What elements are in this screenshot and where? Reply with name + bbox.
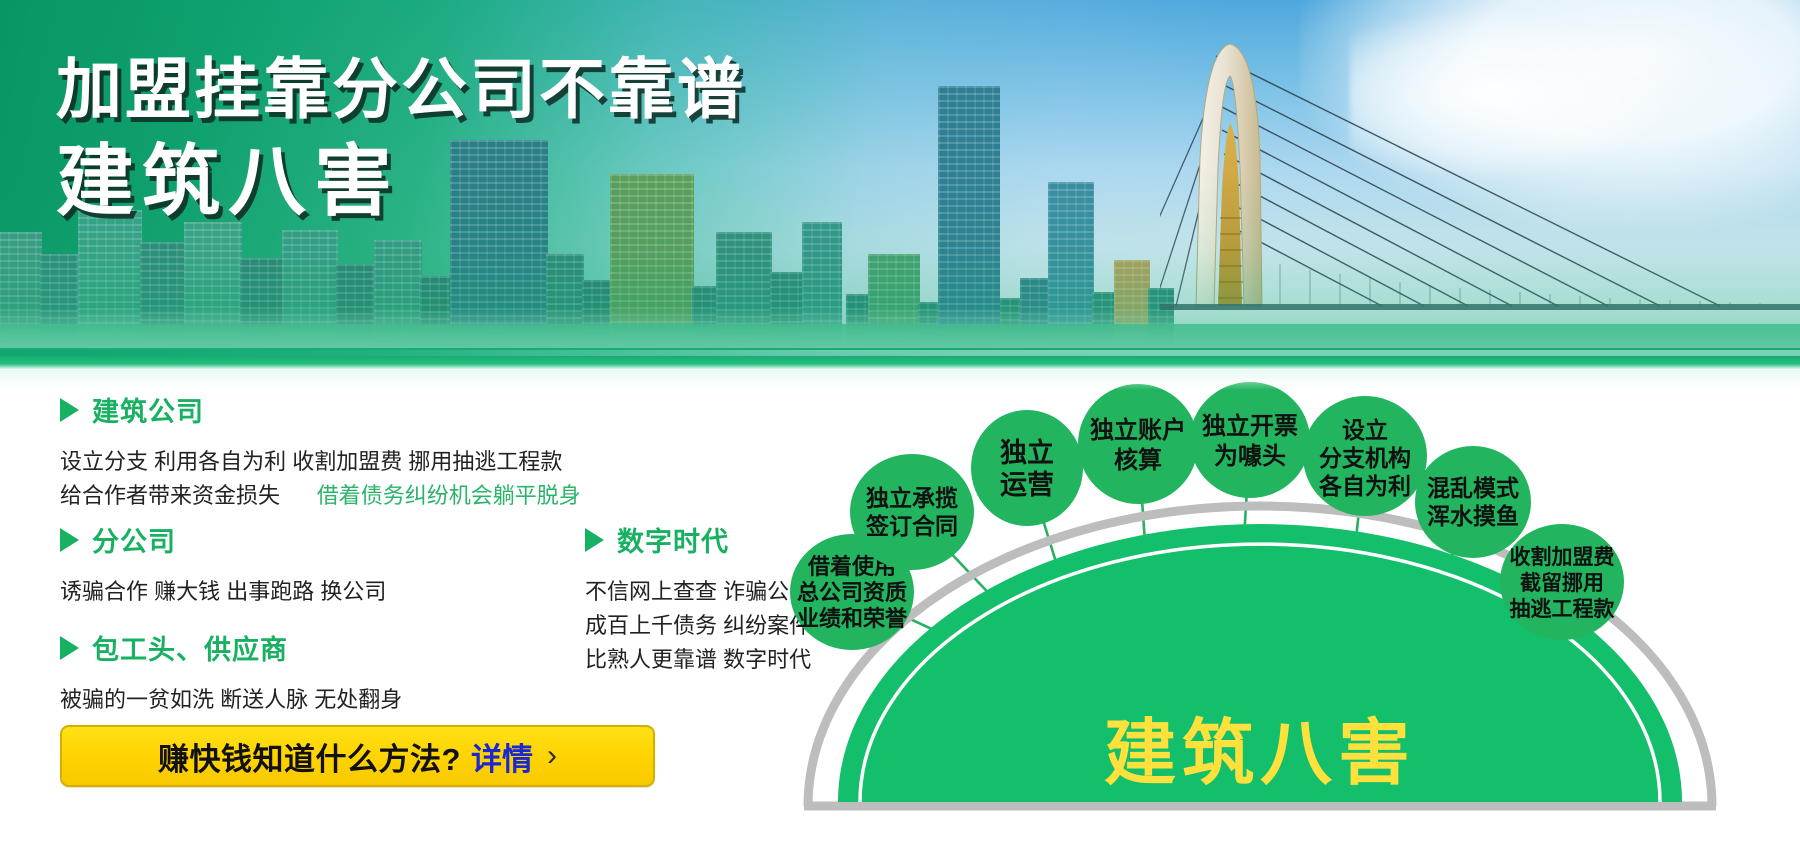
poster-canvas: 加盟挂靠分公司不靠谱 建筑八害 建筑公司 设立分支 利用各自为利 收割加盟费 挪… xyxy=(0,0,1800,844)
section-contractor-line-1: 被骗的一贫如洗 断送人脉 无处翻身 xyxy=(60,683,402,717)
bubble-b3-line-1: 独立 xyxy=(1000,437,1054,468)
headline-line-2: 建筑八害 xyxy=(56,142,746,220)
bubble-b2-line-2: 签订合同 xyxy=(865,513,958,539)
cta-main-label: 赚快钱知道什么方法? xyxy=(158,734,461,779)
section-branch: 分公司 诱骗合作 赚大钱 出事跑路 换公司 xyxy=(60,520,386,609)
bubble-b8-line-1: 收割加盟费 xyxy=(1510,545,1615,569)
section-contractor: 包工头、供应商 被骗的一贫如洗 断送人脉 无处翻身 xyxy=(60,628,402,717)
section-company-line-2-plain: 给合作者带来资金损失 xyxy=(60,483,280,508)
bubble-b5-line-1: 独立开票 xyxy=(1202,412,1298,440)
chevron-right-icon: › xyxy=(547,739,557,773)
section-branch-title: 分公司 xyxy=(92,520,176,559)
hero-banner: 加盟挂靠分公司不靠谱 建筑八害 xyxy=(0,0,1800,368)
section-branch-header: 分公司 xyxy=(60,520,386,559)
banner-bottom-divider xyxy=(0,356,1800,370)
bubble-b5-line-2: 为噱头 xyxy=(1214,443,1286,470)
bubble-b2-shape xyxy=(850,454,974,570)
bubble-b8-line-2: 截留挪用 xyxy=(1520,571,1604,595)
bubble-b4-line-2: 核算 xyxy=(1114,446,1162,474)
bubble-b6-line-2: 分支机构 xyxy=(1319,445,1411,471)
bubble-b8[interactable]: 收割加盟费 截留挪用 抽逃工程款 xyxy=(1500,524,1624,640)
cta-button[interactable]: 赚快钱知道什么方法? 详情 › xyxy=(60,725,655,787)
bubble-b1-line-2: 总公司资质 xyxy=(797,580,907,605)
bubble-b6[interactable]: 设立 分支机构 各自为利 xyxy=(1303,396,1427,516)
section-company: 建筑公司 设立分支 利用各自为利 收割加盟费 挪用抽逃工程款 给合作者带来资金损… xyxy=(60,390,581,513)
bubble-b7-line-2: 浑水摸鱼 xyxy=(1427,503,1519,529)
diagram-svg: 建筑八害 借着使用 总公司资质 业绩和荣誉 独立承揽 签订合同 独立 运营 xyxy=(720,340,1800,844)
headline-line-1: 加盟挂靠分公司不靠谱 xyxy=(56,56,746,122)
bahai-arch-diagram: 建筑八害 借着使用 总公司资质 业绩和荣誉 独立承揽 签订合同 独立 运营 xyxy=(720,340,1800,844)
bubble-b3[interactable]: 独立 运营 xyxy=(971,410,1083,526)
banner-bottom-fade xyxy=(0,368,1800,390)
bubble-b5[interactable]: 独立开票 为噱头 xyxy=(1190,382,1310,498)
section-company-header: 建筑公司 xyxy=(60,390,581,429)
bubble-b4-line-1: 独立账户 xyxy=(1090,416,1186,444)
section-branch-line-1: 诱骗合作 赚大钱 出事跑路 换公司 xyxy=(60,575,386,609)
banner-headline: 加盟挂靠分公司不靠谱 建筑八害 xyxy=(56,56,746,220)
bubble-b6-line-1: 设立 xyxy=(1342,417,1388,443)
triangle-bullet-icon xyxy=(60,636,79,660)
bubble-b7[interactable]: 混乱模式 浑水摸鱼 xyxy=(1415,446,1531,558)
bubble-b8-line-3: 抽逃工程款 xyxy=(1510,597,1616,621)
cta-detail-link[interactable]: 详情 xyxy=(471,734,533,779)
section-digital-title: 数字时代 xyxy=(617,520,729,559)
section-contractor-title: 包工头、供应商 xyxy=(92,628,288,667)
section-company-title: 建筑公司 xyxy=(92,390,204,429)
bubble-b4-shape xyxy=(1078,384,1198,504)
bubble-b4[interactable]: 独立账户 核算 xyxy=(1078,384,1198,504)
bubble-b7-line-1: 混乱模式 xyxy=(1427,475,1519,501)
bubble-b3-shape xyxy=(971,410,1083,526)
section-contractor-header: 包工头、供应商 xyxy=(60,628,402,667)
bubble-b2-line-1: 独立承揽 xyxy=(866,485,958,511)
bubble-b5-shape xyxy=(1190,382,1310,498)
section-company-line-1: 设立分支 利用各自为利 收割加盟费 挪用抽逃工程款 xyxy=(60,445,581,479)
triangle-bullet-icon xyxy=(60,398,79,422)
section-company-line-2-highlight: 借着债务纠纷机会躺平脱身 xyxy=(317,483,581,508)
triangle-bullet-icon xyxy=(585,528,604,552)
bubble-b2[interactable]: 独立承揽 签订合同 xyxy=(850,454,974,570)
triangle-bullet-icon xyxy=(60,528,79,552)
section-company-line-2: 给合作者带来资金损失 借着债务纠纷机会躺平脱身 xyxy=(60,479,581,513)
bubble-b1-line-3: 业绩和荣誉 xyxy=(797,606,908,631)
bubble-b6-line-3: 各自为利 xyxy=(1318,473,1411,499)
dome-center-label: 建筑八害 xyxy=(1104,714,1416,794)
bubble-b3-line-2: 运营 xyxy=(1000,470,1054,500)
bubble-b7-shape xyxy=(1415,446,1531,558)
